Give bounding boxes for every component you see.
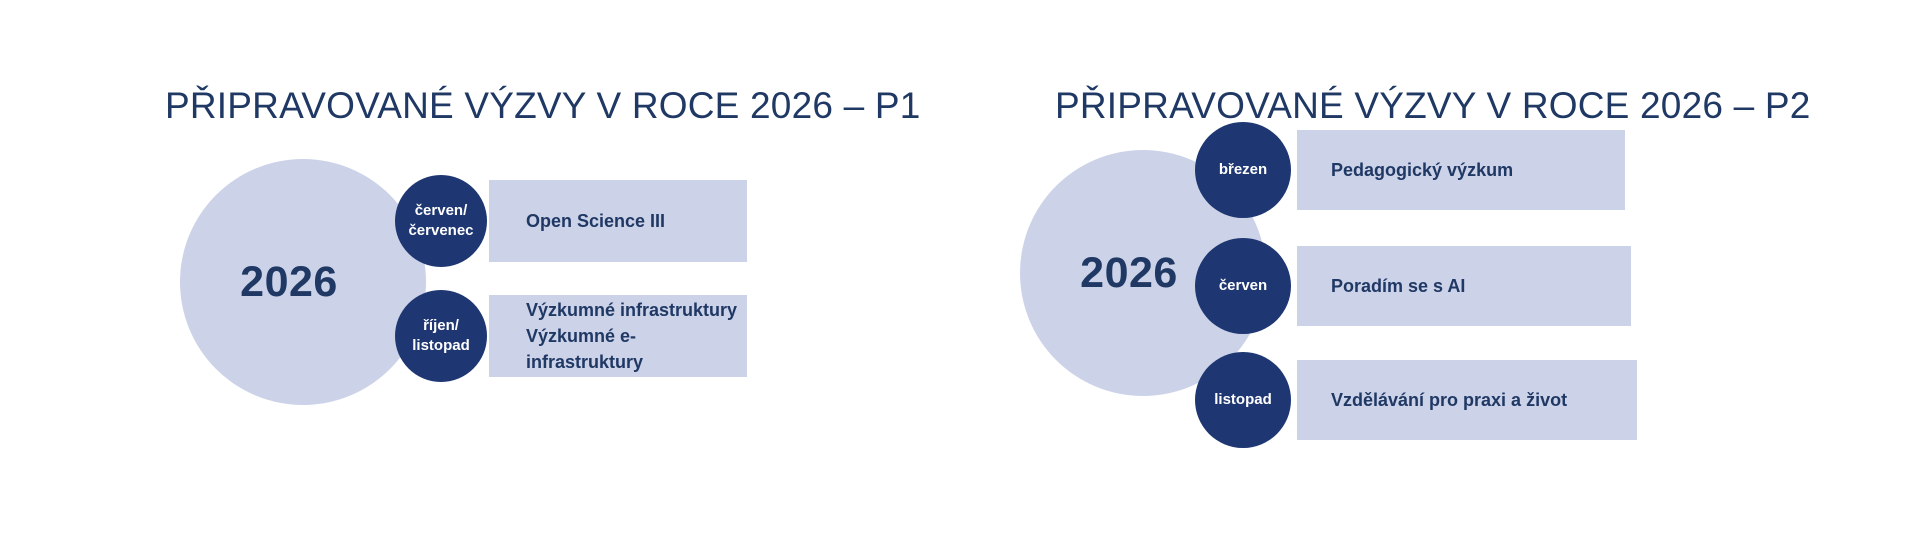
timeline-diagram-p2: 2026 březen Pedagogický výzkum červen Po…: [1020, 118, 1820, 438]
call-bar[interactable]: Poradím se s AI: [1297, 246, 1631, 326]
month-circle[interactable]: říjen/ listopad: [395, 290, 487, 382]
panel-p1: PŘIPRAVOVANÉ VÝZVY V ROCE 2026 – P1 2026…: [0, 0, 900, 554]
month-label: červen: [1219, 276, 1267, 296]
month-label: červen/ červenec: [408, 201, 473, 242]
call-bar[interactable]: Výzkumné infrastruktury Výzkumné e-infra…: [489, 295, 747, 377]
month-label: říjen/ listopad: [412, 316, 470, 357]
slide-canvas: PŘIPRAVOVANÉ VÝZVY V ROCE 2026 – P1 2026…: [0, 0, 1920, 554]
timeline-row[interactable]: červen Poradím se s AI: [1195, 246, 1795, 326]
call-label: Pedagogický výzkum: [1331, 157, 1513, 183]
call-label: Výzkumné infrastruktury Výzkumné e-infra…: [526, 297, 747, 375]
year-label-p2: 2026: [1080, 249, 1178, 298]
timeline-row[interactable]: červen/ červenec Open Science III: [395, 180, 895, 262]
month-label: listopad: [1214, 390, 1272, 410]
month-label: březen: [1219, 160, 1267, 180]
call-bar[interactable]: Vzdělávání pro praxi a život: [1297, 360, 1637, 440]
call-label: Poradím se s AI: [1331, 273, 1465, 299]
month-circle[interactable]: červen/ červenec: [395, 175, 487, 267]
month-circle[interactable]: listopad: [1195, 352, 1291, 448]
timeline-diagram-p1: 2026 červen/ červenec Open Science III ř…: [150, 150, 870, 430]
panel-p2: PŘIPRAVOVANÉ VÝZVY V ROCE 2026 – P2 2026…: [900, 0, 1920, 554]
month-circle[interactable]: březen: [1195, 122, 1291, 218]
year-circle-p1: 2026: [180, 159, 426, 405]
call-bar[interactable]: Open Science III: [489, 180, 747, 262]
call-bar[interactable]: Pedagogický výzkum: [1297, 130, 1625, 210]
timeline-row[interactable]: březen Pedagogický výzkum: [1195, 130, 1795, 210]
timeline-row[interactable]: listopad Vzdělávání pro praxi a život: [1195, 360, 1795, 440]
call-label: Open Science III: [526, 208, 665, 234]
page-title-p1: PŘIPRAVOVANÉ VÝZVY V ROCE 2026 – P1: [165, 85, 921, 127]
call-label: Vzdělávání pro praxi a život: [1331, 387, 1567, 413]
timeline-row[interactable]: říjen/ listopad Výzkumné infrastruktury …: [395, 295, 895, 377]
year-label-p1: 2026: [240, 258, 338, 307]
month-circle[interactable]: červen: [1195, 238, 1291, 334]
